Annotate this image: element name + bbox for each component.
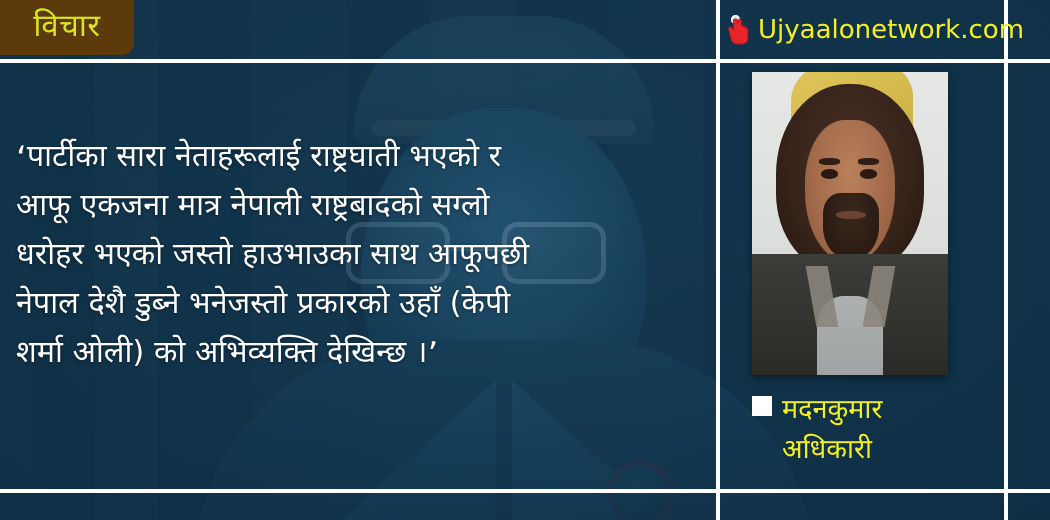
- photo-mouth: [836, 211, 865, 218]
- author-credit: मदनकुमार अधिकारी: [752, 390, 998, 470]
- quote-line-1-text: पार्टीका सारा नेताहरूलाई राष्ट्रघाती भएक…: [27, 139, 501, 174]
- quote-block: ‘पार्टीका सारा नेताहरूलाई राष्ट्रघाती भए…: [16, 132, 706, 377]
- quote-open-mark: ‘: [16, 139, 27, 179]
- author-name-line-1: मदनकुमार: [782, 394, 882, 425]
- quote-line-4: नेपाल देशै डुब्ने भनेजस्तो प्रकारको उहाँ…: [16, 279, 706, 328]
- category-badge: विचार: [0, 0, 134, 55]
- bullet-square-icon: [752, 396, 772, 416]
- author-name: मदनकुमार अधिकारी: [782, 390, 882, 470]
- quote-line-2: आफू एकजना मात्र नेपाली राष्ट्रबादको सग्ल…: [16, 181, 706, 230]
- divider-vertical-middle: [716, 0, 720, 520]
- divider-bottom: [0, 489, 1050, 493]
- photo-eye-right: [860, 169, 878, 179]
- hand-pointer-icon: [726, 15, 752, 45]
- quote-card: विचार Ujyaalonetwork.com ‘पार्टीका सारा …: [0, 0, 1050, 520]
- author-photo: [752, 72, 948, 375]
- photo-beard: [823, 193, 880, 260]
- photo-eyebrow-left: [819, 158, 841, 165]
- quote-line-5-text: शर्मा ओली) को अभिव्यक्ति देखिन्छ ।: [16, 335, 427, 370]
- divider-top: [0, 59, 1050, 63]
- quote-line-1: ‘पार्टीका सारा नेताहरूलाई राष्ट्रघाती भए…: [16, 132, 706, 181]
- category-badge-label: विचार: [33, 11, 100, 45]
- photo-eyebrow-right: [858, 158, 880, 165]
- divider-vertical-right: [1004, 0, 1008, 520]
- photo-eye-left: [821, 169, 839, 179]
- quote-line-5: शर्मा ओली) को अभिव्यक्ति देखिन्छ ।’: [16, 328, 706, 377]
- brand-label: Ujyaalonetwork.com: [758, 17, 1024, 43]
- quote-line-3: धरोहर भएको जस्तो हाउभाउका साथ आफूपछी: [16, 230, 706, 279]
- brand[interactable]: Ujyaalonetwork.com: [726, 8, 1024, 52]
- quote-close-mark: ’: [427, 335, 438, 375]
- author-name-line-2: अधिकारी: [782, 434, 872, 465]
